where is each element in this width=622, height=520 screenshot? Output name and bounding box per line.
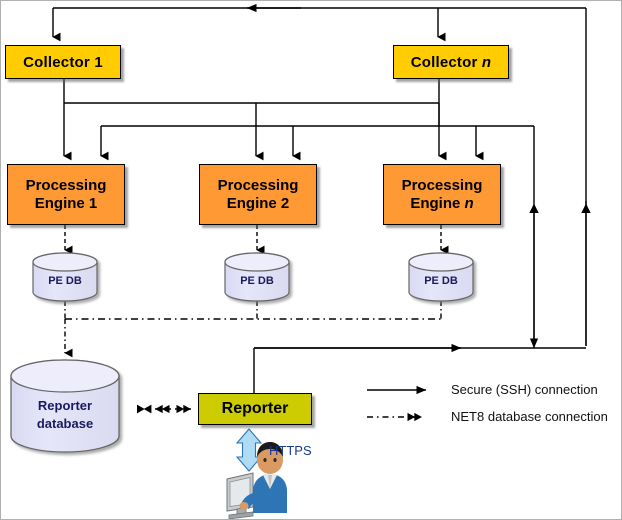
collector-1-box[interactable]: Collector 1	[5, 45, 121, 79]
collector-1-label: Collector 1	[23, 54, 103, 71]
pedb-to-reporter-db-bus	[65, 301, 441, 353]
https-arrow-icon	[237, 429, 261, 471]
collector-n-label-prefix: Collector	[411, 54, 482, 71]
return-riser-arrowheads	[529, 204, 590, 214]
collector-1-label-prefix: Collector	[23, 54, 94, 71]
collector-1-label-suffix: 1	[94, 54, 103, 71]
reporter-label: Reporter	[222, 400, 289, 418]
pe1-line2-prefix: Engine	[35, 195, 89, 212]
engine-to-pedb-links	[65, 225, 441, 250]
legend-item-1-label: NET8 database connection	[451, 409, 608, 424]
processing-engine-1-box[interactable]: Processing Engine 1	[7, 164, 125, 225]
reporter-box[interactable]: Reporter	[198, 393, 312, 425]
collector-n-box[interactable]: Collector n	[393, 45, 509, 79]
pe2-line2-suffix: 2	[281, 195, 289, 212]
processing-engine-2-label: Processing Engine 2	[218, 177, 299, 212]
reporter-database-shape	[11, 360, 119, 452]
pen-line2-prefix: Engine	[410, 195, 464, 212]
https-label: HTTPS	[269, 443, 312, 458]
architecture-diagram: REPORTER (dashed double arrows both ways…	[0, 0, 622, 520]
collector-n-label: Collector n	[411, 54, 492, 71]
collectorn-to-engines	[101, 79, 534, 156]
pe1-line1: Processing	[26, 177, 107, 194]
processing-engine-1-label: Processing Engine 1	[26, 177, 107, 212]
pe1-line2-suffix: 1	[89, 195, 97, 212]
pe-db-3	[409, 253, 473, 301]
collector1-to-engines	[64, 79, 439, 156]
pe2-line1: Processing	[218, 177, 299, 194]
processing-engine-n-box[interactable]: Processing Engine n	[383, 164, 501, 225]
pe-db-2	[225, 253, 289, 301]
processing-engine-n-label: Processing Engine n	[402, 177, 483, 212]
pe2-line2-prefix: Engine	[227, 195, 281, 212]
pen-line2-suffix: n	[465, 195, 474, 212]
legend-item-0-label: Secure (SSH) connection	[451, 382, 598, 397]
processing-engine-2-box[interactable]: Processing Engine 2	[199, 164, 317, 225]
pe-db-1	[33, 253, 97, 301]
reporterdb-reporter-link-left-head	[137, 405, 151, 414]
pen-line1: Processing	[402, 177, 483, 194]
collector-n-label-suffix: n	[482, 54, 491, 71]
